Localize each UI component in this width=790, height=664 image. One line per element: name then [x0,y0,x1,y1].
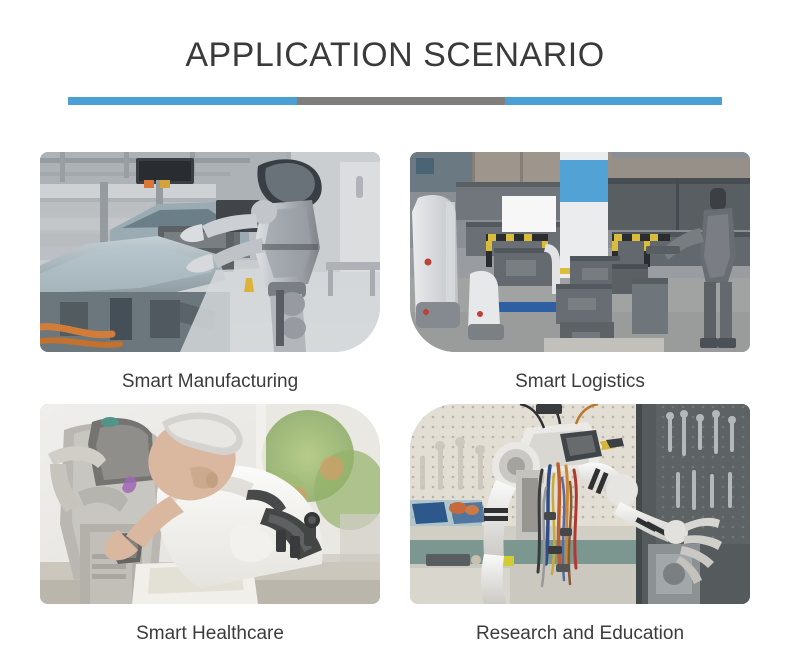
scenario-card-smart-logistics[interactable]: Smart Logistics [410,152,750,400]
page-header: APPLICATION SCENARIO [0,0,790,118]
scenario-image-smart-logistics[interactable] [410,152,750,352]
divider-segment-right [505,97,722,105]
rehabilitation-robot-illustration [40,404,380,604]
divider-segment-middle [297,97,505,105]
page-title: APPLICATION SCENARIO [0,36,790,75]
scenario-card-research-and-education[interactable]: Research and Education [410,404,750,652]
scenario-image-research-and-education[interactable] [410,404,750,604]
scenario-caption-smart-manufacturing: Smart Manufacturing [122,371,298,393]
warehouse-robot-illustration [410,152,750,352]
scenario-caption-smart-healthcare: Smart Healthcare [136,623,284,645]
scenario-caption-smart-logistics: Smart Logistics [515,371,645,393]
application-scenario-page: APPLICATION SCENARIO [0,0,790,664]
scenario-grid: Smart Manufacturing [40,152,750,652]
scenario-card-smart-manufacturing[interactable]: Smart Manufacturing [40,152,380,400]
scenario-image-smart-manufacturing[interactable] [40,152,380,352]
lab-robot-illustration [410,404,750,604]
scenario-image-smart-healthcare[interactable] [40,404,380,604]
scenario-card-smart-healthcare[interactable]: Smart Healthcare [40,404,380,652]
factory-robot-illustration [40,152,380,352]
title-divider [68,97,722,105]
divider-segment-left [68,97,297,105]
scenario-caption-research-and-education: Research and Education [476,623,684,645]
